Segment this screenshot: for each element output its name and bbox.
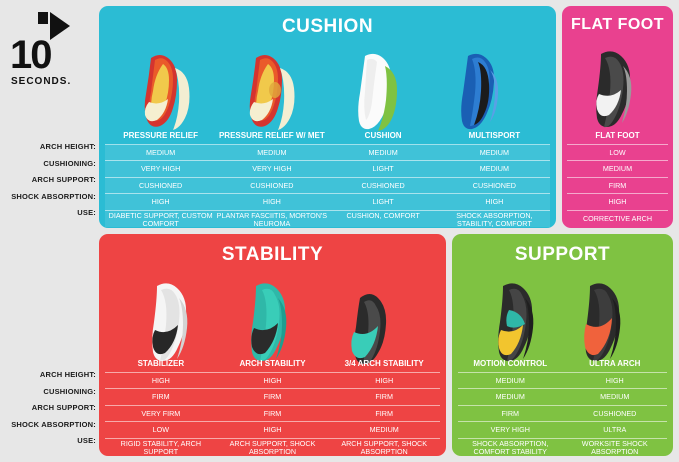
support-row-arch-height: MEDIUM HIGH <box>458 373 667 390</box>
flatfoot-row-cushioning: MEDIUM <box>567 161 668 178</box>
panel-title-cushion: CUSHION <box>99 6 556 38</box>
row-labels-bottom: ARCH HEIGHT: CUSHIONING: ARCH SUPPORT: S… <box>0 367 96 450</box>
cell: FIRM <box>328 389 440 406</box>
logo-text-10: 10 <box>10 36 51 74</box>
cell: MEDIUM <box>105 145 216 162</box>
support-table: MOTION CONTROL ULTRA ARCH MEDIUM HIGH ME… <box>458 356 667 455</box>
col-header-pressure-relief-met-pad: PRESSURE RELIEF W/ MET PAD <box>216 128 327 145</box>
cell: SHOCK ABSORPTION, STABILITY, COMFORT <box>439 211 550 228</box>
cell: LIGHT <box>328 161 439 178</box>
stability-table: STABILIZER ARCH STABILITY 3/4 ARCH STABI… <box>105 356 440 455</box>
row-label-use-2: USE: <box>0 433 96 450</box>
panel-title-stability: STABILITY <box>99 234 446 266</box>
cell: LOW <box>105 422 217 439</box>
cell: HIGH <box>217 373 329 390</box>
col-header-flat-foot: FLAT FOOT <box>567 128 668 145</box>
stability-row-arch-support: VERY FIRM FIRM FIRM <box>105 406 440 423</box>
cell: HIGH <box>563 373 668 390</box>
insole-ultra-arch <box>574 280 638 364</box>
stability-row-shock-absorption: LOW HIGH MEDIUM <box>105 422 440 439</box>
cell: HIGH <box>439 194 550 211</box>
cell: HIGH <box>216 194 327 211</box>
cushion-row-cushioning: VERY HIGH VERY HIGH LIGHT MEDIUM <box>105 161 550 178</box>
support-row-cushioning: MEDIUM MEDIUM <box>458 389 667 406</box>
insole-cushion <box>349 50 411 132</box>
cell: SHOCK ABSORPTION, COMFORT STABILITY <box>458 439 563 456</box>
cell: CUSHIONED <box>328 178 439 195</box>
stability-row-cushioning: FIRM FIRM FIRM <box>105 389 440 406</box>
cell: FIRM <box>217 389 329 406</box>
cell: DIABETIC SUPPORT, CUSTOM COMFORT <box>105 211 216 228</box>
support-row-shock-absorption: VERY HIGH ULTRA <box>458 422 667 439</box>
row-labels-top: ARCH HEIGHT: CUSHIONING: ARCH SUPPORT: S… <box>0 139 96 222</box>
cushion-header-row: PRESSURE RELIEF PRESSURE RELIEF W/ MET P… <box>105 128 550 145</box>
cell: MEDIUM <box>216 145 327 162</box>
cell: MEDIUM <box>458 373 563 390</box>
cell: ARCH SUPPORT, SHOCK ABSORPTION <box>328 439 440 456</box>
cell: VERY HIGH <box>105 161 216 178</box>
cell: HIGH <box>567 194 668 211</box>
cell: VERY HIGH <box>458 422 563 439</box>
panel-cushion: CUSHION <box>99 6 556 228</box>
cell: MEDIUM <box>563 389 668 406</box>
cell: FIRM <box>217 406 329 423</box>
support-insole-art-row <box>452 266 673 364</box>
cell: CUSHIONED <box>563 406 668 423</box>
cell: CUSHION, COMFORT <box>328 211 439 228</box>
row-label-arch-height-2: ARCH HEIGHT: <box>0 367 96 384</box>
row-label-use: USE: <box>0 205 96 222</box>
logo-text-seconds: SECONDS. <box>11 76 71 87</box>
cell: MEDIUM <box>439 145 550 162</box>
row-label-cushioning: CUSHIONING: <box>0 156 96 173</box>
cell: HIGH <box>217 422 329 439</box>
flatfoot-table: FLAT FOOT LOW MEDIUM FIRM HIGH CORRECTIV… <box>567 128 668 227</box>
panel-title-flat-foot: FLAT FOOT <box>562 6 673 34</box>
cushion-row-arch-height: MEDIUM MEDIUM MEDIUM MEDIUM <box>105 145 550 162</box>
support-row-arch-support: FIRM CUSHIONED <box>458 406 667 423</box>
cell: MEDIUM <box>567 161 668 178</box>
flatfoot-row-arch-support: FIRM <box>567 178 668 195</box>
cell: CUSHIONED <box>439 178 550 195</box>
insole-arch-stability <box>240 280 304 364</box>
col-header-cushion: CUSHION <box>328 128 439 145</box>
cell: HIGH <box>105 373 217 390</box>
cell: MEDIUM <box>439 161 550 178</box>
col-header-motion-control: MOTION CONTROL <box>458 356 563 373</box>
panel-flat-foot: FLAT FOOT FLAT FOOT LOW MEDIUM <box>562 6 673 228</box>
cell: HIGH <box>105 194 216 211</box>
cell: WORKSITE SHOCK ABSORPTION <box>563 439 668 456</box>
stability-row-arch-height: HIGH HIGH HIGH <box>105 373 440 390</box>
cell: CORRECTIVE ARCH <box>567 211 668 228</box>
cell: VERY FIRM <box>105 406 217 423</box>
flatfoot-row-arch-height: LOW <box>567 145 668 162</box>
cell: ARCH SUPPORT, SHOCK ABSORPTION <box>217 439 329 456</box>
cell: HIGH <box>328 373 440 390</box>
flatfoot-row-shock-absorption: HIGH <box>567 194 668 211</box>
cell: LOW <box>567 145 668 162</box>
cell: CUSHIONED <box>216 178 327 195</box>
cell: RIGID STABILITY, ARCH SUPPORT <box>105 439 217 456</box>
col-header-arch-stability: ARCH STABILITY <box>217 356 329 373</box>
col-header-stabilizer: STABILIZER <box>105 356 217 373</box>
flatfoot-row-use: CORRECTIVE ARCH <box>567 211 668 228</box>
brand-logo: 10 SECONDS. <box>8 10 94 88</box>
row-label-arch-support: ARCH SUPPORT: <box>0 172 96 189</box>
row-label-shock-absorption: SHOCK ABSORPTION: <box>0 189 96 206</box>
cushion-row-arch-support: CUSHIONED CUSHIONED CUSHIONED CUSHIONED <box>105 178 550 195</box>
insole-motion-control <box>487 280 551 364</box>
cell: CUSHIONED <box>105 178 216 195</box>
row-label-arch-support-2: ARCH SUPPORT: <box>0 400 96 417</box>
cushion-row-use: DIABETIC SUPPORT, CUSTOM COMFORT PLANTAR… <box>105 211 550 228</box>
cell: MEDIUM <box>328 422 440 439</box>
support-row-use: SHOCK ABSORPTION, COMFORT STABILITY WORK… <box>458 439 667 456</box>
cell: PLANTAR FASCIITIS, MORTON'S NEUROMA <box>216 211 327 228</box>
flatfoot-insole-art-row <box>562 34 673 128</box>
row-label-shock-absorption-2: SHOCK ABSORPTION: <box>0 417 96 434</box>
cushion-row-shock-absorption: HIGH HIGH LIGHT HIGH <box>105 194 550 211</box>
row-label-arch-height: ARCH HEIGHT: <box>0 139 96 156</box>
stability-header-row: STABILIZER ARCH STABILITY 3/4 ARCH STABI… <box>105 356 440 373</box>
support-header-row: MOTION CONTROL ULTRA ARCH <box>458 356 667 373</box>
insole-three-quarter-arch-stability <box>340 280 404 364</box>
panel-support: SUPPORT <box>452 234 673 456</box>
panel-stability: STABILITY <box>99 234 446 456</box>
insole-flat-foot <box>585 46 651 128</box>
stability-insole-art-row <box>99 266 446 364</box>
cell: MEDIUM <box>458 389 563 406</box>
insole-comparison-chart: 10 SECONDS. ARCH HEIGHT: CUSHIONING: ARC… <box>0 0 679 462</box>
flatfoot-header-row: FLAT FOOT <box>567 128 668 145</box>
col-header-multisport: MULTISPORT <box>439 128 550 145</box>
stability-row-use: RIGID STABILITY, ARCH SUPPORT ARCH SUPPO… <box>105 439 440 456</box>
insole-pressure-relief-met-pad <box>244 50 306 132</box>
row-label-cushioning-2: CUSHIONING: <box>0 384 96 401</box>
col-header-pressure-relief: PRESSURE RELIEF <box>105 128 216 145</box>
col-header-three-quarter-arch-stability: 3/4 ARCH STABILITY <box>328 356 440 373</box>
cell: MEDIUM <box>328 145 439 162</box>
cushion-insole-art-row <box>99 38 556 132</box>
cell: VERY HIGH <box>216 161 327 178</box>
insole-multisport <box>454 50 516 132</box>
col-header-ultra-arch: ULTRA ARCH <box>563 356 668 373</box>
cell: ULTRA <box>563 422 668 439</box>
cell: FIRM <box>567 178 668 195</box>
cushion-table: PRESSURE RELIEF PRESSURE RELIEF W/ MET P… <box>105 128 550 227</box>
cell: FIRM <box>458 406 563 423</box>
cell: FIRM <box>328 406 440 423</box>
cell: FIRM <box>105 389 217 406</box>
insole-pressure-relief <box>139 50 201 132</box>
panel-title-support: SUPPORT <box>452 234 673 266</box>
cell: LIGHT <box>328 194 439 211</box>
insole-stabilizer <box>141 280 205 364</box>
